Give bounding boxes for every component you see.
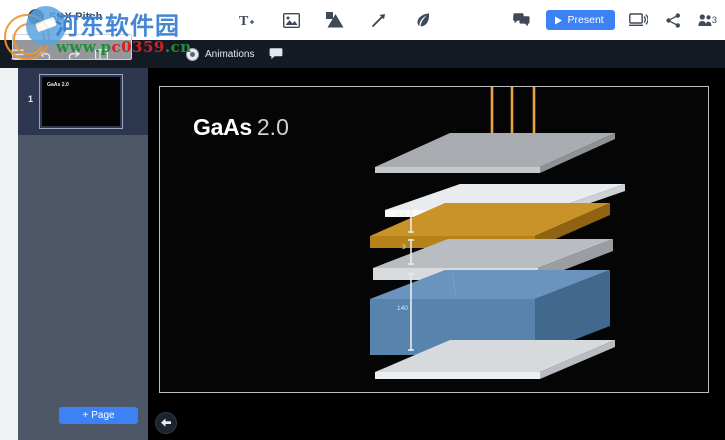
thickness-label-buffer: 3 <box>402 244 406 251</box>
share-icon[interactable] <box>663 9 685 31</box>
play-icon <box>554 16 563 25</box>
add-line-icon[interactable] <box>368 9 390 31</box>
editor-canvas-area: GaAs2.0 <box>148 68 725 440</box>
present-button[interactable]: Present <box>546 10 615 30</box>
sdx-logo-icon <box>28 9 44 25</box>
thickness-label-emitter: 0.5 <box>397 211 406 218</box>
slide-number: 1 <box>28 94 33 104</box>
add-image-icon[interactable] <box>280 9 302 31</box>
secondary-toolbar: Animations <box>0 40 725 68</box>
insert-tools-group: T <box>236 0 434 40</box>
undo-arrow-icon[interactable] <box>155 412 177 434</box>
add-text-icon[interactable]: T <box>236 9 258 31</box>
animations-button[interactable]: Animations <box>186 48 254 61</box>
app-title: SDX Pitch <box>49 11 102 23</box>
app-brand: SDX Pitch <box>28 9 102 25</box>
collaborators-button[interactable]: 3 <box>698 9 717 31</box>
animation-toggle-icon <box>186 48 199 61</box>
animations-label: Animations <box>205 49 254 60</box>
slide-thumbnail-title: GaAs 2.0 <box>47 81 69 87</box>
layer-top-contact-grid <box>375 133 615 173</box>
slide-thumbnail[interactable]: GaAs 2.0 <box>39 74 123 129</box>
add-page-button[interactable]: + Page <box>59 407 138 424</box>
layout-icon[interactable] <box>92 45 110 63</box>
add-page-label: Page <box>91 410 114 421</box>
plus-icon: + <box>82 410 88 421</box>
collaborators-count: 3 <box>712 15 717 26</box>
slide-canvas[interactable]: GaAs2.0 <box>159 86 709 393</box>
layer-stack-diagram <box>160 87 709 393</box>
speech-bubble-icon[interactable] <box>267 45 285 63</box>
slides-sidebar: 1 GaAs 2.0 + Page <box>18 68 148 440</box>
add-shape-icon[interactable] <box>324 9 346 31</box>
thickness-label-substrate: 140 <box>397 305 408 312</box>
redo-icon[interactable] <box>64 45 82 63</box>
cast-icon[interactable] <box>628 9 650 31</box>
draw-pen-icon[interactable] <box>412 9 434 31</box>
app-root: SDX Pitch T <box>0 0 725 440</box>
slide-thumbnail-canvas: GaAs 2.0 <box>42 77 120 126</box>
comment-icon[interactable] <box>511 9 533 31</box>
secondary-toolbar-left-group <box>8 45 110 63</box>
people-icon <box>698 13 713 27</box>
top-right-actions: Present <box>511 0 717 40</box>
menu-icon[interactable] <box>8 45 26 63</box>
present-button-label: Present <box>568 14 604 26</box>
top-toolbar: SDX Pitch T <box>0 0 725 40</box>
svg-text:T: T <box>239 14 249 29</box>
slide-list-item-active[interactable]: 1 GaAs 2.0 <box>18 68 148 135</box>
undo-icon[interactable] <box>36 45 54 63</box>
